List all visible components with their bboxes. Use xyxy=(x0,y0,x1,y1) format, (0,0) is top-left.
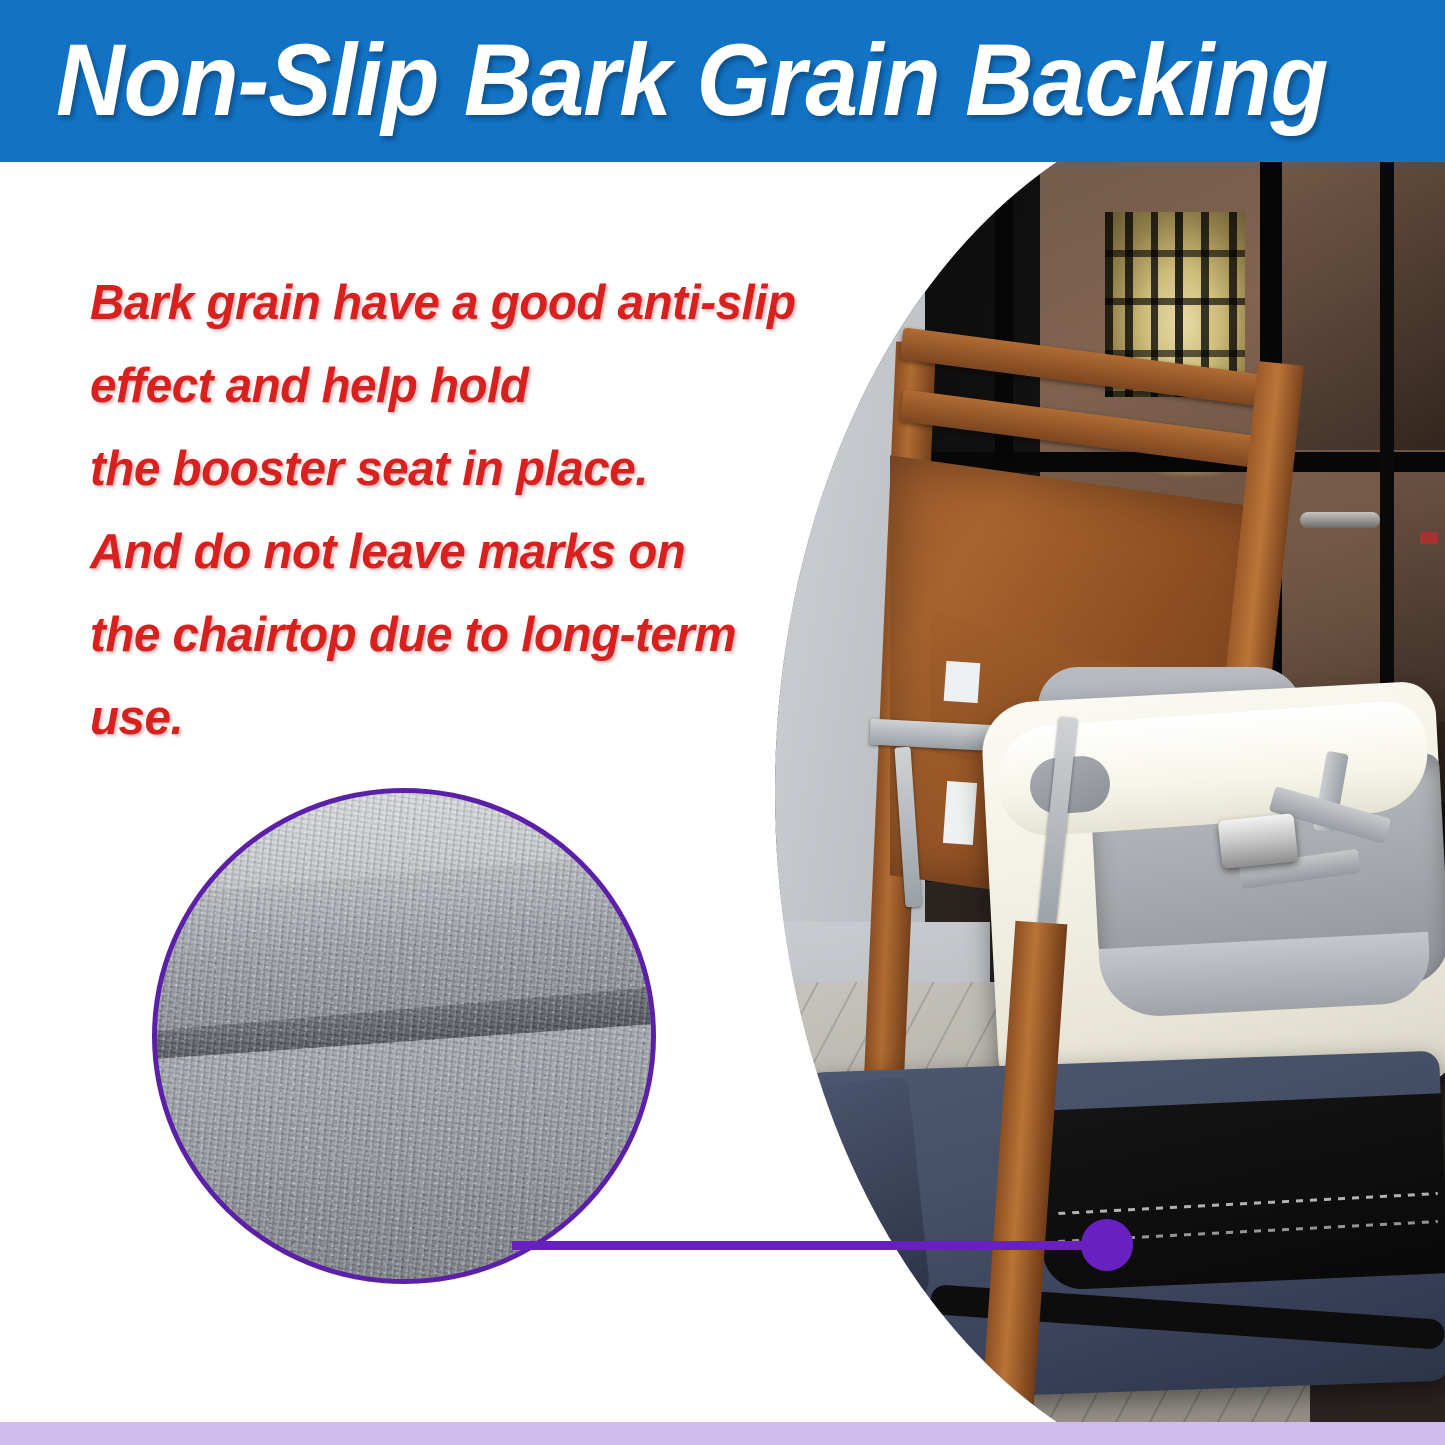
callout-connector-line xyxy=(512,1241,1112,1250)
copy-line: the booster seat in place. xyxy=(90,428,759,511)
window-handle xyxy=(1300,512,1380,528)
infographic-page: Non-Slip Bark Grain Backing Bark grain h… xyxy=(0,0,1445,1445)
background-object xyxy=(1420,532,1438,544)
bark-grain-speckle xyxy=(152,788,656,1284)
copy-line: effect and help hold xyxy=(90,345,759,428)
header-banner: Non-Slip Bark Grain Backing xyxy=(0,0,1445,162)
copy-line: the chairtop due to long-term xyxy=(90,594,759,677)
copy-line: Bark grain have a good anti-slip xyxy=(90,262,759,345)
texture-closeup-circle xyxy=(152,788,656,1284)
harness-buckle xyxy=(1218,813,1299,869)
bottom-accent-strip xyxy=(0,1422,1445,1445)
description-copy: Bark grain have a good anti-slip effect … xyxy=(90,262,780,760)
cushion-side-flap xyxy=(788,1076,931,1317)
copy-line: use. xyxy=(90,677,759,760)
callout-anchor-dot xyxy=(1081,1219,1133,1271)
strap-tab xyxy=(944,661,981,703)
copy-line: And do not leave marks on xyxy=(90,511,759,594)
window-pane xyxy=(1394,162,1445,450)
page-title: Non-Slip Bark Grain Backing xyxy=(56,18,1328,142)
strap-tab xyxy=(943,781,977,845)
